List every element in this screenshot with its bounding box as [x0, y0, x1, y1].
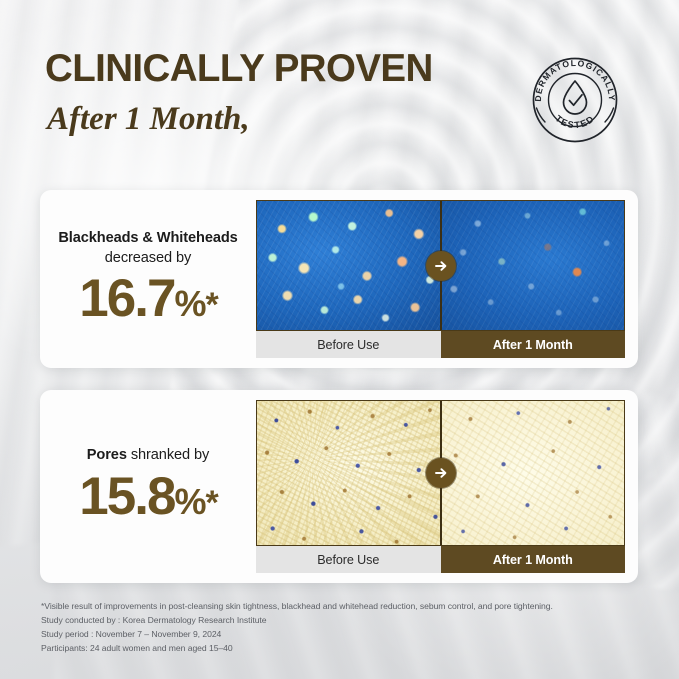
- result-card-blackheads: Blackheads & Whiteheads decreased by 16.…: [40, 190, 638, 368]
- comparison-images-pores: [256, 400, 625, 546]
- before-image-pores: [256, 400, 441, 546]
- seal-top-text: DERMATOLOGICALLY: [533, 58, 617, 102]
- asterisk-mark: *: [205, 286, 216, 324]
- after-image-pores: [441, 400, 626, 546]
- stat-label-line1: Blackheads & Whiteheads: [58, 230, 237, 246]
- result-card-pores: Pores shranked by 15.8%*: [40, 390, 638, 583]
- dermatologically-tested-seal: DERMATOLOGICALLY TESTED: [525, 50, 625, 150]
- comparison-pores: Before Use After 1 Month: [256, 400, 625, 573]
- stat-value-blackheads: 16.7%*: [79, 272, 216, 325]
- stat-block-pores: Pores shranked by 15.8%*: [40, 390, 256, 583]
- percent-symbol: %: [174, 481, 205, 522]
- caption-after: After 1 Month: [441, 331, 626, 358]
- arrow-right-icon: [426, 251, 456, 281]
- stat-label-line1: Pores: [87, 447, 127, 463]
- footnote-block: *Visible result of improvements in post-…: [41, 600, 641, 656]
- stat-label-line2: decreased by: [105, 250, 191, 266]
- seal-bottom-text: TESTED: [553, 113, 596, 130]
- svg-text:TESTED: TESTED: [553, 113, 596, 130]
- footnote-line-1: *Visible result of improvements in post-…: [41, 600, 641, 614]
- arrow-right-icon: [426, 458, 456, 488]
- stat-label-blackheads: Blackheads & Whiteheads decreased by: [58, 229, 237, 268]
- footnote-line-3: Study period : November 7 – November 9, …: [41, 628, 641, 642]
- after-image-blackheads: [441, 200, 626, 331]
- caption-row-blackheads: Before Use After 1 Month: [256, 331, 625, 358]
- comparison-images-blackheads: [256, 200, 625, 331]
- stat-number: 15.8: [79, 467, 174, 526]
- clinical-results-poster: CLINICALLY PROVEN After 1 Month, DERMATO…: [0, 0, 679, 679]
- percent-symbol: %: [174, 283, 205, 324]
- asterisk-mark: *: [205, 484, 216, 522]
- footnote-line-2: Study conducted by : Korea Dermatology R…: [41, 614, 641, 628]
- stat-label-line2: shranked by: [131, 447, 209, 463]
- before-image-blackheads: [256, 200, 441, 331]
- page-title: CLINICALLY PROVEN: [45, 50, 433, 89]
- caption-before: Before Use: [256, 331, 441, 358]
- page-subtitle: After 1 Month,: [47, 103, 250, 136]
- water-drop-check-icon: [564, 81, 587, 114]
- stat-value-pores: 15.8%*: [79, 470, 216, 523]
- stat-label-pores: Pores shranked by: [87, 446, 209, 466]
- svg-text:DERMATOLOGICALLY: DERMATOLOGICALLY: [533, 58, 617, 102]
- caption-after: After 1 Month: [441, 546, 626, 573]
- footnote-line-4: Participants: 24 adult women and men age…: [41, 642, 641, 656]
- stat-block-blackheads: Blackheads & Whiteheads decreased by 16.…: [40, 190, 256, 368]
- comparison-blackheads: Before Use After 1 Month: [256, 200, 625, 358]
- caption-row-pores: Before Use After 1 Month: [256, 546, 625, 573]
- stat-number: 16.7: [79, 269, 174, 328]
- caption-before: Before Use: [256, 546, 441, 573]
